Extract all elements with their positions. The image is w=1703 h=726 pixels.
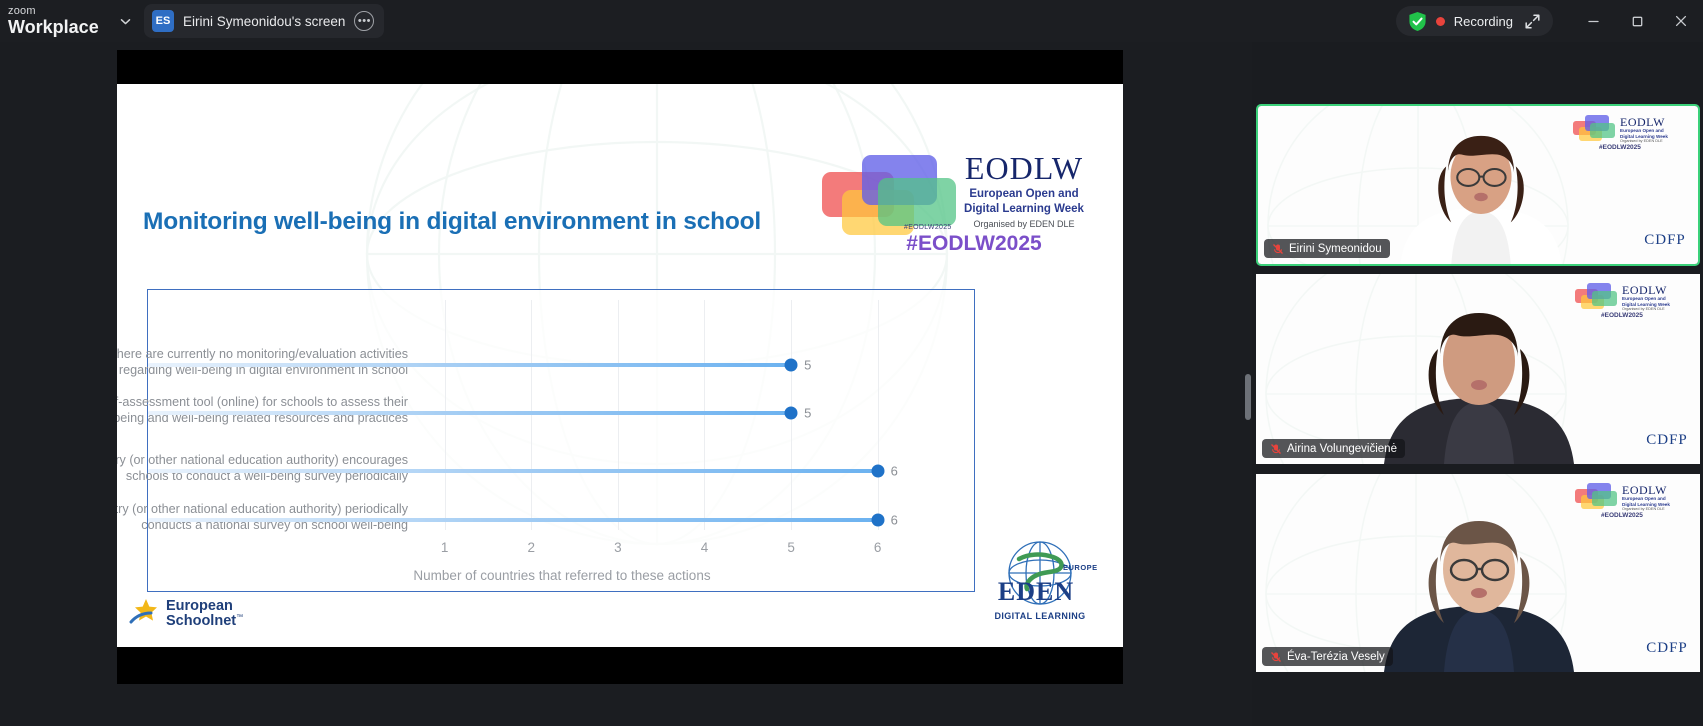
eden-wordmark: EDEN (991, 577, 1081, 607)
workspace-chevron-down-icon[interactable] (112, 0, 138, 42)
chart-data-point (871, 514, 884, 527)
avatar: ES (152, 10, 174, 32)
participant-name-badge: Airina Volungevičienė (1262, 439, 1405, 458)
chart-x-axis-label: Number of countries that referred to the… (148, 568, 976, 583)
eodlw-mini-logo: EODLW European Open andDigital Learning … (1574, 282, 1682, 324)
schoolnet-wordmark: European Schoolnet™ (166, 599, 243, 629)
chart-category-line: The ministry (or other national educatio… (117, 452, 408, 468)
eden-europe-label: EUROPE (1063, 563, 1098, 572)
close-icon[interactable] (1659, 0, 1703, 42)
participant-name-badge: Éva-Terézia Vesely (1262, 647, 1393, 666)
participant-name: Eirini Symeonidou (1289, 243, 1382, 255)
chart-x-tick: 4 (701, 540, 709, 555)
eodlw-wordmark: EODLW (954, 152, 1094, 184)
chart-x-tick: 5 (787, 540, 795, 555)
eodlw-hashtag: #EODLW2025 (1599, 144, 1641, 151)
cedefop-logo-icon: CDFP (1646, 634, 1688, 660)
schoolnet-line2: Schoolnet (166, 613, 236, 629)
eden-logo: EDEN EUROPE DIGITAL LEARNING (985, 539, 1095, 631)
tab-title: Eirini Symeonidou's screen (183, 14, 345, 29)
logo-subtitle-line2: Digital Learning Week (954, 202, 1094, 217)
eden-tagline: DIGITAL LEARNING (985, 611, 1095, 621)
cedefop-logo-icon: CDFP (1644, 226, 1686, 252)
chart-stem (148, 469, 878, 474)
schoolnet-tm: ™ (236, 614, 243, 621)
participant-tile[interactable]: EODLW European Open andDigital Learning … (1256, 104, 1700, 266)
eodlw-organised-by: Organised by EDEN DLE (1620, 139, 1663, 143)
chart-stem (148, 518, 878, 523)
schoolnet-line1: European (166, 599, 243, 614)
chart-data-point (785, 359, 798, 372)
titlebar-right-controls: Recording (1396, 0, 1703, 42)
logo-organised-by: Organised by EDEN DLE (954, 219, 1094, 229)
zoom-brand: zoom Workplace (0, 6, 112, 36)
logo-hashtag: #EODLW2025 (904, 224, 952, 231)
recording-status-pill[interactable]: Recording (1396, 6, 1553, 36)
chart-stem (148, 411, 791, 416)
screen-letterbox-bottom (117, 647, 1123, 684)
participant-name-badge: Eirini Symeonidou (1264, 239, 1390, 258)
chart-x-tick: 3 (614, 540, 622, 555)
chart-data-point (871, 465, 884, 478)
mic-muted-icon (1270, 443, 1282, 455)
eodlw-organised-by: Organised by EDEN DLE (1622, 507, 1665, 511)
chart-x-tick: 6 (874, 540, 882, 555)
eodlw-wordmark-block: EODLW European Open and Digital Learning… (954, 152, 1094, 229)
recording-label: Recording (1454, 14, 1513, 29)
minimize-icon[interactable] (1571, 0, 1615, 42)
recording-dot-icon (1436, 17, 1445, 26)
participant-name: Éva-Terézia Vesely (1287, 651, 1385, 663)
square-green (878, 178, 956, 226)
mic-muted-icon (1270, 651, 1282, 663)
schoolnet-star-icon (129, 596, 163, 630)
shared-screen-stage: Monitoring well-being in digital environ… (0, 42, 1252, 726)
chart-x-tick: 2 (527, 540, 535, 555)
square-green (1592, 291, 1617, 306)
stage-scrollbar[interactable] (1245, 374, 1251, 420)
svg-text:CDFP: CDFP (1646, 640, 1688, 656)
participant-video-image (1374, 299, 1584, 464)
chart-x-tick: 1 (441, 540, 449, 555)
eodlw-organised-by: Organised by EDEN DLE (1622, 307, 1665, 311)
svg-text:CDFP: CDFP (1646, 432, 1688, 448)
logo-subtitle-line1: European Open and (954, 187, 1094, 202)
square-green (1590, 123, 1615, 138)
participant-tile[interactable]: EODLW European Open andDigital Learning … (1256, 474, 1700, 672)
mic-muted-icon (1272, 243, 1284, 255)
eodlw-hashtag: #EODLW2025 (1601, 512, 1643, 519)
chart-category-line: The ministry (or other national educatio… (117, 501, 408, 517)
eodlw-hashtag: #EODLW2025 (1601, 312, 1643, 319)
brand-small-label: zoom (8, 6, 112, 17)
chart-value-label: 5 (804, 358, 811, 373)
square-green (1592, 491, 1617, 506)
chart-container: There are currently no monitoring/evalua… (147, 289, 975, 592)
european-schoolnet-logo: European Schoolnet™ (129, 596, 261, 638)
screen-share-tab[interactable]: ES Eirini Symeonidou's screen ••• (144, 4, 384, 38)
eodlw-squares-mark: #EODLW2025 (820, 152, 955, 238)
eodlw-logo: #EODLW2025 EODLW European Open and Digit… (820, 152, 1092, 242)
svg-text:CDFP: CDFP (1644, 232, 1686, 248)
participant-video-image (1374, 507, 1584, 672)
chart-gridline (878, 300, 879, 530)
participant-name: Airina Volungevičienė (1287, 443, 1397, 455)
participant-video-image (1376, 124, 1586, 264)
page-title: Monitoring well-being in digital environ… (143, 208, 833, 236)
chart-value-label: 6 (891, 464, 898, 479)
eodlw-mini-logo: EODLW European Open andDigital Learning … (1572, 114, 1680, 156)
more-options-icon[interactable]: ••• (354, 11, 374, 31)
participant-tiles: EODLW European Open andDigital Learning … (1256, 46, 1700, 722)
maximize-icon[interactable] (1615, 0, 1659, 42)
chart-plot-area: There are currently no monitoring/evalua… (148, 290, 974, 591)
chart-category-line: There is a self-assessment tool (online)… (117, 394, 408, 410)
chart-value-label: 5 (804, 406, 811, 421)
cedefop-logo-icon: CDFP (1646, 426, 1688, 452)
participant-tile[interactable]: EODLW European Open andDigital Learning … (1256, 274, 1700, 464)
screen-letterbox-top (117, 50, 1123, 84)
chart-category-line: There are currently no monitoring/evalua… (117, 346, 408, 362)
eodlw-mini-logo: EODLW European Open andDigital Learning … (1574, 482, 1682, 524)
chart-data-point (785, 407, 798, 420)
shield-check-icon (1408, 11, 1427, 32)
presentation-slide: Monitoring well-being in digital environ… (117, 84, 1123, 647)
slide-hashtag: #EODLW2025 (874, 232, 1074, 256)
chart-stem (148, 363, 791, 368)
expand-arrows-icon[interactable] (1524, 13, 1541, 30)
title-bar: zoom Workplace ES Eirini Symeonidou's sc… (0, 0, 1703, 42)
brand-big-label: Workplace (8, 18, 112, 36)
chart-value-label: 6 (891, 513, 898, 528)
zoom-app-window: zoom Workplace ES Eirini Symeonidou's sc… (0, 0, 1703, 726)
